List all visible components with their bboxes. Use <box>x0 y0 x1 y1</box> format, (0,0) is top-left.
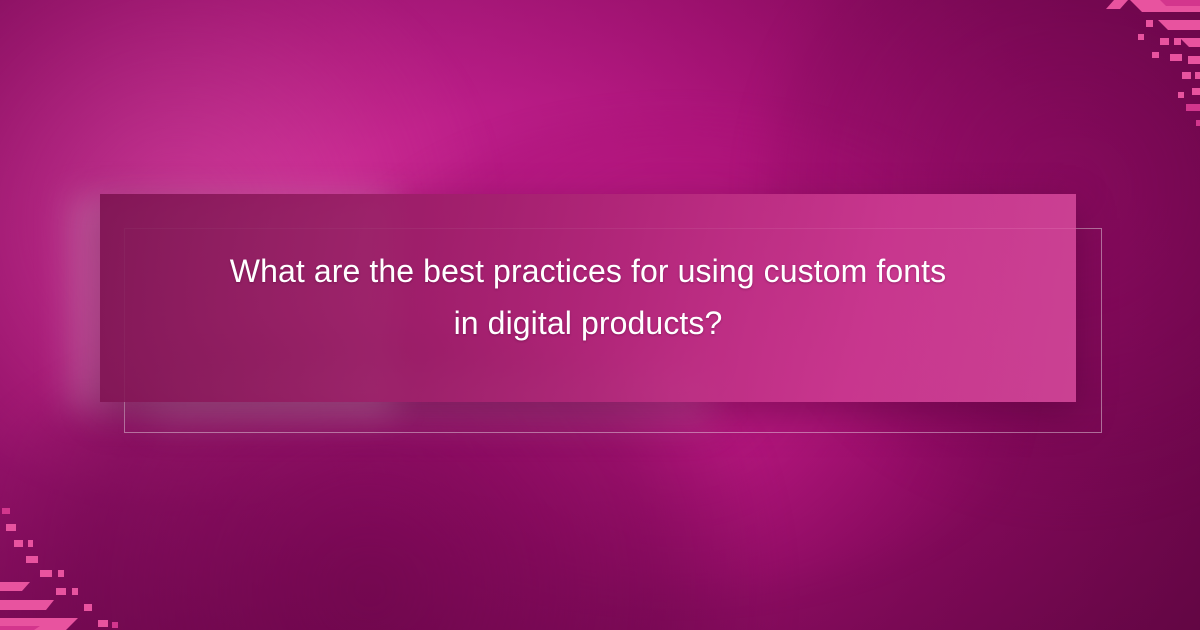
question-card: What are the best practices for using cu… <box>100 194 1076 402</box>
poster-canvas: What are the best practices for using cu… <box>0 0 1200 630</box>
question-text: What are the best practices for using cu… <box>220 246 956 350</box>
